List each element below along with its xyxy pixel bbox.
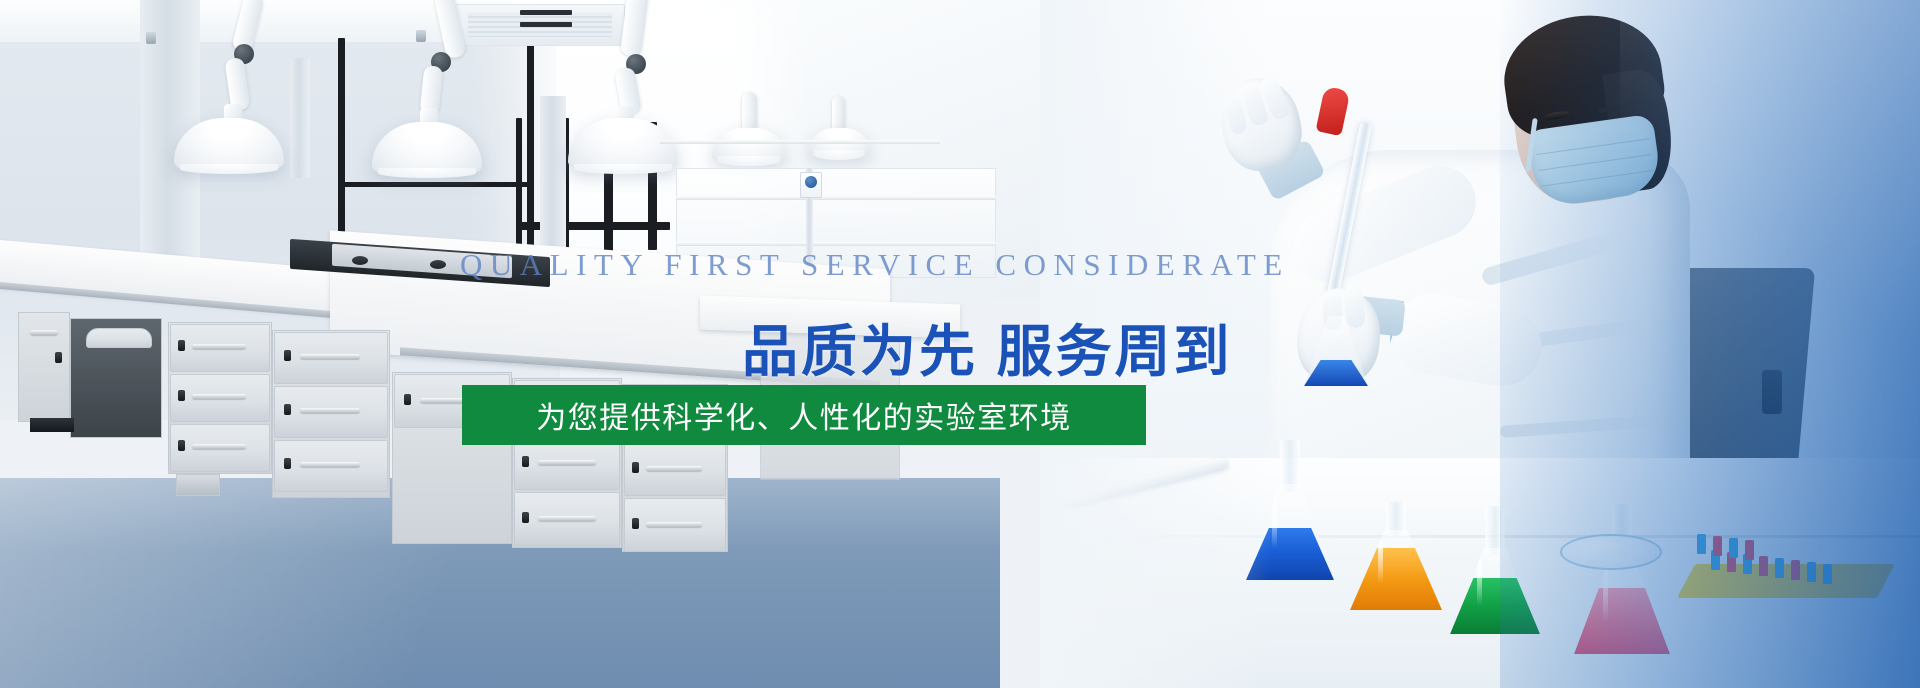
subtitle-chinese: 为您提供科学化、人性化的实验室环境 xyxy=(536,393,1072,437)
tagline-english: QUALITY FIRST SERVICE CONSIDERATE xyxy=(460,247,1290,283)
hero-banner: QUALITY FIRST SERVICE CONSIDERATE 品质为先 服… xyxy=(0,0,1920,688)
subtitle-green-bar: 为您提供科学化、人性化的实验室环境 xyxy=(462,385,1146,445)
banner-text-block: QUALITY FIRST SERVICE CONSIDERATE 品质为先 服… xyxy=(0,0,1920,688)
headline-chinese: 品质为先 服务周到 xyxy=(742,307,1233,388)
